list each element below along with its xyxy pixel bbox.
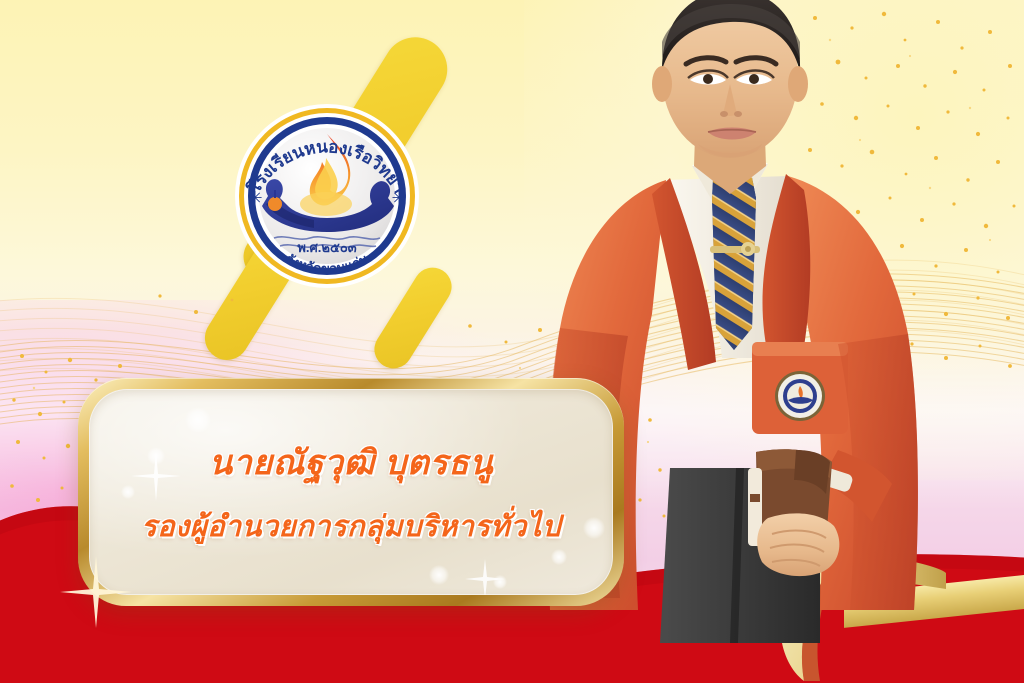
bokeh-light <box>429 565 449 585</box>
sparkle-star-corner <box>56 552 136 632</box>
asterisk-right-icon: ✳ <box>391 188 406 208</box>
bokeh-light <box>493 575 507 589</box>
school-logo: โรงเรียนหนองเรือวิทยา จังหวัดขอนแก่น พ.ศ… <box>222 100 432 290</box>
bokeh-light <box>185 407 211 433</box>
bokeh-light <box>147 447 165 465</box>
bokeh-light <box>551 549 567 565</box>
bokeh-light <box>583 517 605 539</box>
name-plaque-inner: นายณัฐวุฒิ บุตรธนู รองผู้อำนวยการกลุ่มบร… <box>89 389 613 595</box>
bokeh-light <box>121 485 135 499</box>
person-name: นายณัฐวุฒิ บุตรธนู <box>209 435 493 489</box>
poster-canvas: โรงเรียนหนองเรือวิทยา จังหวัดขอนแก่น พ.ศ… <box>0 0 1024 683</box>
person-role: รองผู้อำนวยการกลุ่มบริหารทั่วไป <box>141 503 561 549</box>
asterisk-left-icon: ✳ <box>247 188 262 208</box>
logo-founded-year: พ.ศ.๒๕๐๓ <box>297 240 356 255</box>
name-plaque: นายณัฐวุฒิ บุตรธนู รองผู้อำนวยการกลุ่มบร… <box>78 378 624 606</box>
